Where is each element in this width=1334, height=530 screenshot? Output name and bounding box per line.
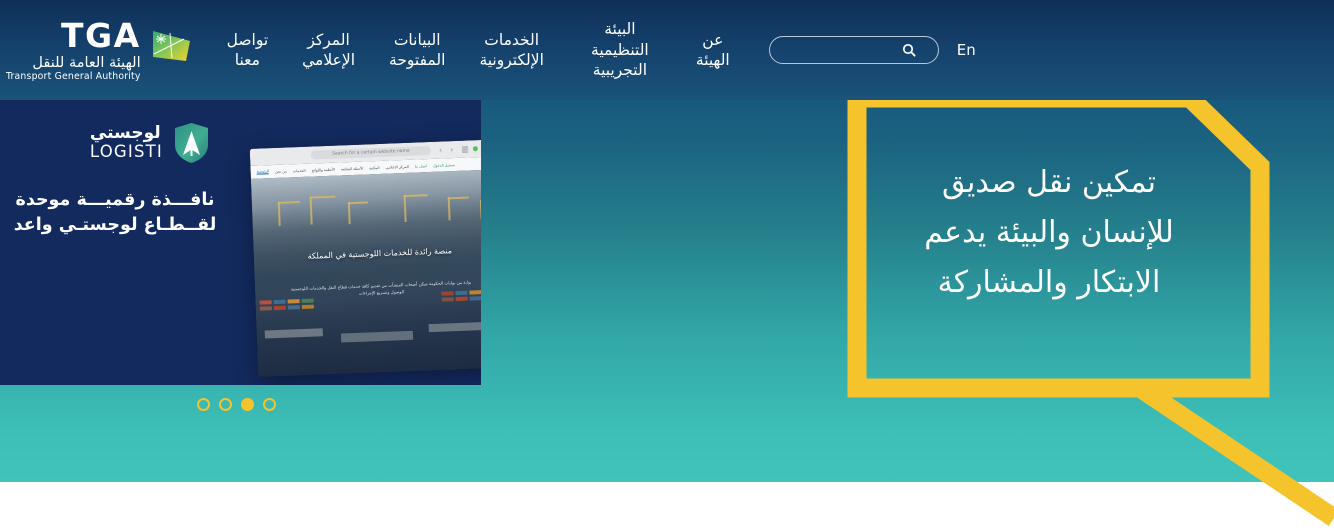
search-box[interactable]	[769, 36, 939, 64]
nav-menu: عن الهيئة البيئة التنظيمية التجريبية الخ…	[210, 19, 747, 80]
nav-item-open-data[interactable]: البيانات المفتوحة	[372, 30, 462, 71]
browser-mockup: ▥ ‹ › Search for a certain website name …	[250, 139, 481, 377]
promo-tagline: نافـــذة رقميـــة موحدة لقــطـاع لوجستـي…	[10, 188, 220, 239]
carousel-dot-3[interactable]	[219, 398, 232, 411]
nav-item-about[interactable]: عن الهيئة	[679, 30, 747, 71]
mockup-menu-item-regulations: الأنظمة واللوائح	[311, 167, 334, 172]
logo-acronym: TGA	[61, 19, 141, 52]
top-navbar: TGA الهيئة العامة للنقل Transport Genera…	[0, 0, 1334, 100]
mockup-hero-image: منصة رائدة للخدمات اللوجستية في المملكة …	[251, 169, 481, 377]
mockup-menu-item-contact: اتصل بنا	[415, 164, 427, 168]
language-toggle[interactable]: En	[957, 41, 976, 59]
sidebar-icon: ▥	[461, 145, 469, 154]
carousel-dot-1[interactable]	[263, 398, 276, 411]
back-icon: ‹	[450, 145, 454, 154]
shield-icon	[173, 122, 210, 164]
mockup-menu-item-login: تسجيل الدخول	[433, 163, 455, 168]
browser-url-bar: Search for a certain website name	[311, 146, 431, 160]
logisti-name-ar: لوجستي	[90, 125, 161, 143]
forward-icon: ›	[439, 146, 443, 155]
nav-item-regulatory-sandbox[interactable]: البيئة التنظيمية التجريبية	[561, 19, 679, 80]
search-icon[interactable]	[896, 37, 922, 63]
mockup-headline: منصة رائدة للخدمات اللوجستية في المملكة	[254, 243, 481, 265]
mockup-menu-item-services: الخدمات	[293, 168, 306, 172]
nav-item-eservices[interactable]: الخدمات الإلكترونية	[462, 30, 560, 71]
promo-banner-card[interactable]: لوجستي LOGISTI نافـــذة رقميـــة موحدة ل…	[0, 100, 481, 385]
mockup-menu-item-faq: الأسئلة الشائعة	[341, 166, 364, 171]
carousel-dot-2[interactable]	[241, 398, 254, 411]
window-maximize-dot-icon	[473, 146, 478, 151]
mockup-menu-item-media: المركز الإعلامي	[385, 164, 408, 169]
hero-headline: تمكين نقل صديق للإنسان والبيئة يدعم الاب…	[904, 158, 1194, 308]
nav-item-contact-us[interactable]: تواصل معنا	[210, 30, 286, 71]
logisti-name-en: LOGISTI	[90, 143, 163, 160]
mockup-menu-item-library: المكتبة	[369, 165, 379, 169]
mockup-menu-item-home: الرئيسية	[257, 169, 270, 174]
search-input[interactable]	[770, 37, 896, 63]
carousel-dots	[197, 398, 276, 411]
logo-name-ar: الهيئة العامة للنقل	[32, 56, 140, 71]
nav-item-media-center[interactable]: المركز الإعلامي	[285, 30, 372, 71]
promo-left-column: لوجستي LOGISTI نافـــذة رقميـــة موحدة ل…	[0, 100, 232, 385]
carousel-dot-4[interactable]	[197, 398, 210, 411]
logo-name-en: Transport General Authority	[6, 72, 141, 81]
tga-logo[interactable]: TGA الهيئة العامة للنقل Transport Genera…	[6, 19, 196, 82]
logisti-brand: لوجستي LOGISTI	[90, 122, 210, 164]
tga-logo-mark-icon	[150, 27, 196, 73]
page-root: تمكين نقل صديق للإنسان والبيئة يدعم الاب…	[0, 0, 1334, 530]
mockup-menu-item-about: من نحن	[275, 169, 287, 173]
